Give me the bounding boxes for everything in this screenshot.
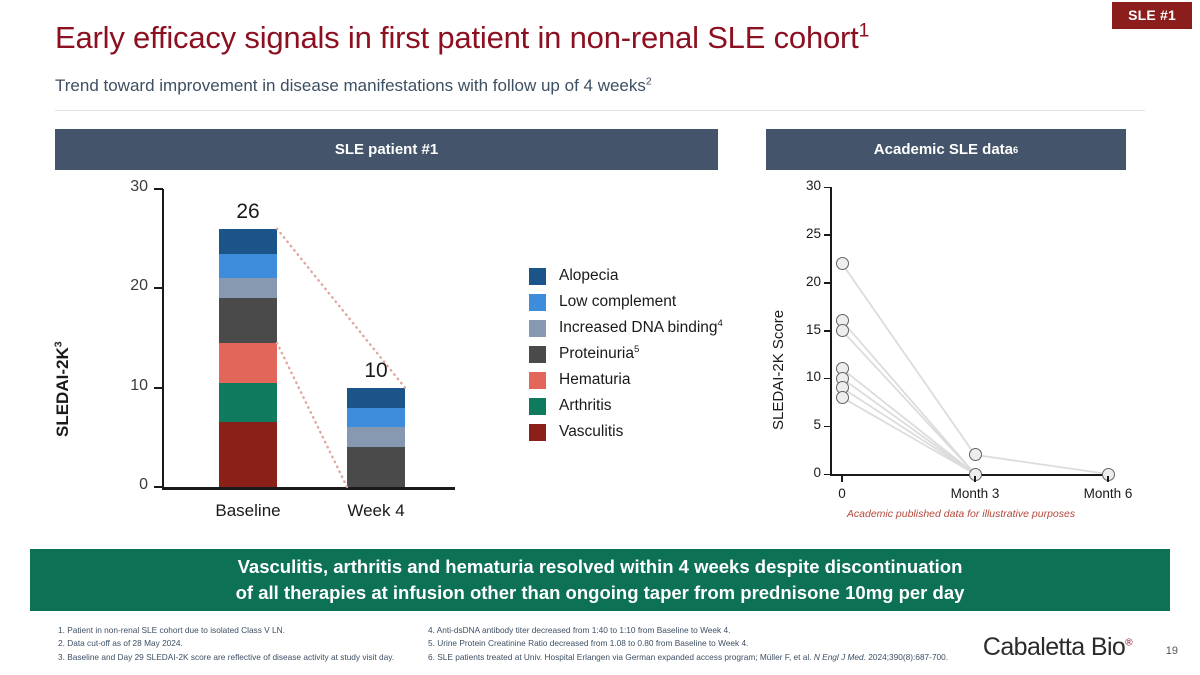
trend-line-patient-6 — [842, 388, 975, 474]
x-tick-label-right: 0 — [797, 486, 887, 501]
legend-swatch-icon — [529, 372, 546, 389]
company-logo-text: Cabaletta Bio — [983, 633, 1125, 661]
footnote-item: 5. Urine Protein Creatinine Ratio decrea… — [428, 637, 948, 650]
patient-trend-lines — [766, 175, 1200, 535]
conclusion-banner-line1: Vasculitis, arthritis and hematuria reso… — [238, 554, 963, 580]
company-logo: Cabaletta Bio® — [983, 633, 1132, 662]
panel-header-right-label: Academic SLE data — [874, 141, 1013, 158]
data-point — [836, 324, 849, 337]
line-scatter-chart: SLEDAI-2K Score 051015202530 0Month 3Mon… — [766, 175, 1126, 535]
trend-line-patient-4 — [842, 369, 975, 474]
chart-caption-right: Academic published data for illustrative… — [796, 508, 1126, 520]
trend-line-patient-1 — [975, 455, 1108, 474]
x-tick-mark-right — [974, 476, 976, 482]
legend-item-low-complement[interactable]: Low complement — [529, 289, 723, 315]
status-badge: SLE #1 — [1112, 2, 1192, 29]
page-subtitle-footnote-ref: 2 — [646, 75, 652, 87]
footnote-item: 1. Patient in non-renal SLE cohort due t… — [58, 624, 394, 637]
legend-swatch-icon — [529, 320, 546, 337]
footnote-item: 4. Anti-dsDNA antibody titer decreased f… — [428, 624, 948, 637]
legend-footnote-ref: 4 — [718, 318, 723, 329]
x-tick-mark-right — [841, 476, 843, 482]
header-divider — [55, 110, 1145, 111]
registered-trademark-icon: ® — [1125, 638, 1132, 649]
legend-swatch-icon — [529, 346, 546, 363]
x-tick-mark-right — [1107, 476, 1109, 482]
legend-label: Alopecia — [559, 267, 618, 285]
legend-item-vasculitis[interactable]: Vasculitis — [529, 419, 723, 445]
page-subtitle: Trend toward improvement in disease mani… — [55, 76, 652, 96]
chart-legend: AlopeciaLow complementIncreased DNA bind… — [529, 263, 723, 445]
x-tick-label-left: Baseline — [188, 501, 308, 521]
legend-item-hematuria[interactable]: Hematuria — [529, 367, 723, 393]
x-tick-label-right: Month 6 — [1063, 486, 1153, 501]
footnotes-left: 1. Patient in non-renal SLE cohort due t… — [58, 624, 394, 664]
legend-swatch-icon — [529, 294, 546, 311]
legend-label: Proteinuria5 — [559, 345, 639, 363]
page-title-footnote-ref: 1 — [859, 21, 869, 42]
legend-item-increased-dna-binding[interactable]: Increased DNA binding4 — [529, 315, 723, 341]
trend-line-patient-7 — [842, 397, 975, 474]
legend-swatch-icon — [529, 398, 546, 415]
legend-item-alopecia[interactable]: Alopecia — [529, 263, 723, 289]
panel-header-left-label: SLE patient #1 — [335, 141, 438, 158]
legend-label: Low complement — [559, 293, 676, 311]
citation-journal-name: N Engl J Med — [814, 652, 864, 662]
legend-label: Arthritis — [559, 397, 612, 415]
data-point — [836, 391, 849, 404]
trend-line-patient-2 — [842, 321, 975, 474]
legend-label: Hematuria — [559, 371, 631, 389]
footnote-citation: 6. SLE patients treated at Univ. Hospita… — [428, 651, 948, 664]
trend-line-patient-3 — [842, 331, 975, 475]
legend-label: Increased DNA binding4 — [559, 319, 723, 337]
legend-label: Vasculitis — [559, 423, 623, 441]
footnote-item: 3. Baseline and Day 29 SLEDAI-2K score a… — [58, 651, 394, 664]
conclusion-banner-line2: of all therapies at infusion other than … — [236, 580, 965, 606]
panel-header-right: Academic SLE data6 — [766, 129, 1126, 170]
status-badge-label: SLE #1 — [1128, 7, 1176, 23]
conclusion-banner: Vasculitis, arthritis and hematuria reso… — [30, 549, 1170, 611]
page-title-text: Early efficacy signals in first patient … — [55, 20, 859, 55]
footnote-item: 2. Data cut-off as of 28 May 2024. — [58, 637, 394, 650]
panel-header-left: SLE patient #1 — [55, 129, 718, 170]
legend-swatch-icon — [529, 268, 546, 285]
legend-swatch-icon — [529, 424, 546, 441]
data-point — [969, 448, 982, 461]
data-point — [836, 257, 849, 270]
legend-item-proteinuria[interactable]: Proteinuria5 — [529, 341, 723, 367]
footnotes-right: 4. Anti-dsDNA antibody titer decreased f… — [428, 624, 948, 664]
x-tick-label-right: Month 3 — [930, 486, 1020, 501]
page-number: 19 — [1166, 645, 1178, 657]
legend-footnote-ref: 5 — [634, 344, 639, 355]
page-title: Early efficacy signals in first patient … — [55, 20, 869, 56]
x-tick-label-left: Week 4 — [316, 501, 436, 521]
legend-item-arthritis[interactable]: Arthritis — [529, 393, 723, 419]
stacked-bar-chart: SLEDAI-2K3 0102030 2610 BaselineWeek 4 A… — [55, 175, 718, 535]
page-subtitle-text: Trend toward improvement in disease mani… — [55, 76, 646, 95]
